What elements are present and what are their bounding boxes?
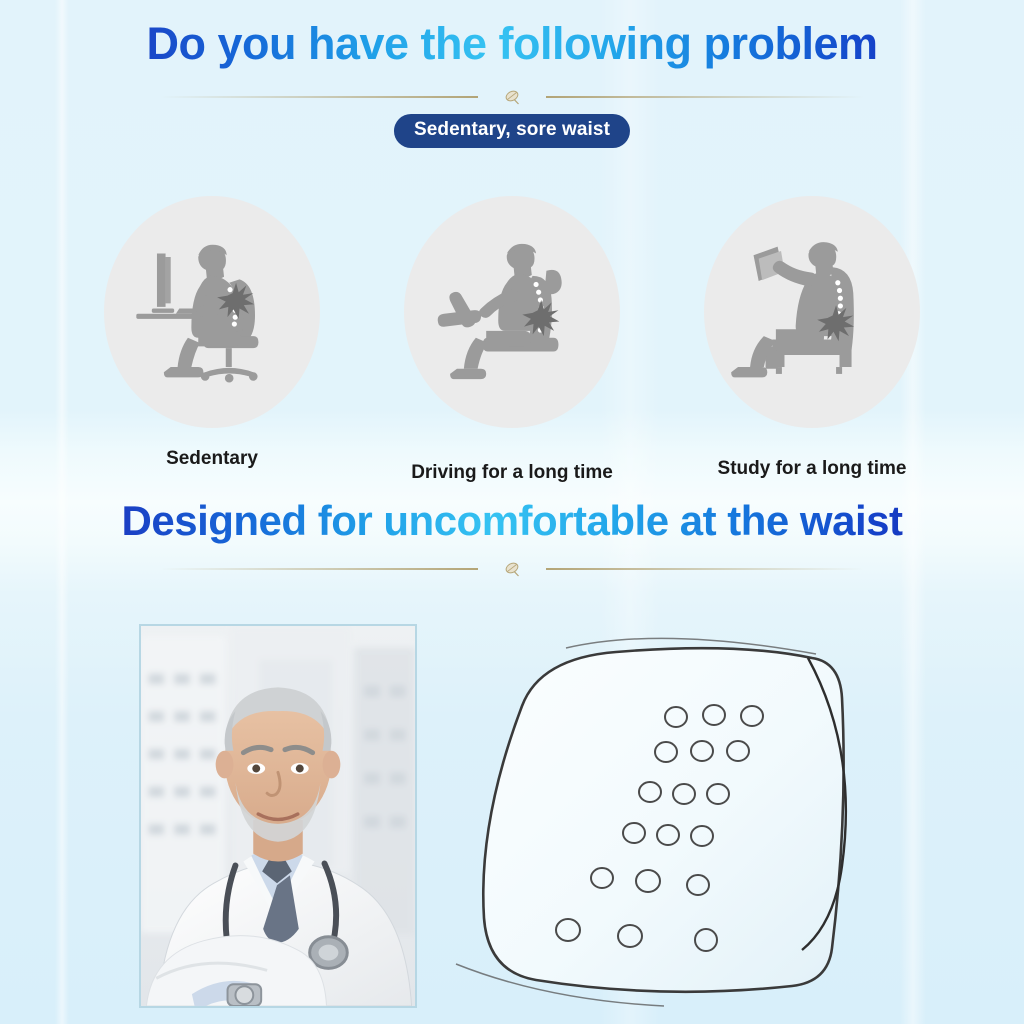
problem-label: Driving for a long time bbox=[411, 462, 613, 484]
primary-headline: Do you have the following problem bbox=[0, 16, 1024, 72]
problem-icon-circle bbox=[104, 196, 320, 428]
problem-icon-circle bbox=[704, 196, 920, 428]
problem-card-driving: Driving for a long time bbox=[362, 196, 662, 484]
doctor-portrait bbox=[139, 624, 417, 1008]
person-driving-icon bbox=[426, 226, 598, 398]
ornamental-divider-top bbox=[160, 84, 864, 110]
problem-label: Study for a long time bbox=[718, 458, 907, 480]
infographic-page: Do you have the following problem Sedent… bbox=[0, 0, 1024, 1024]
divider-rule-right bbox=[546, 568, 864, 570]
leaf-ornament-icon bbox=[502, 559, 522, 579]
lumbar-cushion-sketch bbox=[448, 620, 904, 1020]
divider-rule-right bbox=[546, 96, 864, 98]
ornamental-divider-bottom bbox=[160, 556, 864, 582]
problem-icon-circle bbox=[404, 196, 620, 428]
person-at-desk-icon bbox=[126, 226, 298, 398]
problem-cards-row: Sedentary bbox=[0, 196, 1024, 486]
divider-rule-left bbox=[160, 568, 478, 570]
problem-card-study: Study for a long time bbox=[662, 196, 962, 480]
subtitle-badge: Sedentary, sore waist bbox=[394, 114, 630, 148]
problem-label: Sedentary bbox=[166, 448, 258, 470]
showcase-row bbox=[0, 620, 1024, 1024]
divider-rule-left bbox=[160, 96, 478, 98]
problem-card-sedentary: Sedentary bbox=[62, 196, 362, 470]
leaf-ornament-icon bbox=[502, 87, 522, 107]
person-reading-icon bbox=[726, 226, 898, 398]
secondary-headline: Designed for uncomfortable at the waist bbox=[0, 494, 1024, 548]
